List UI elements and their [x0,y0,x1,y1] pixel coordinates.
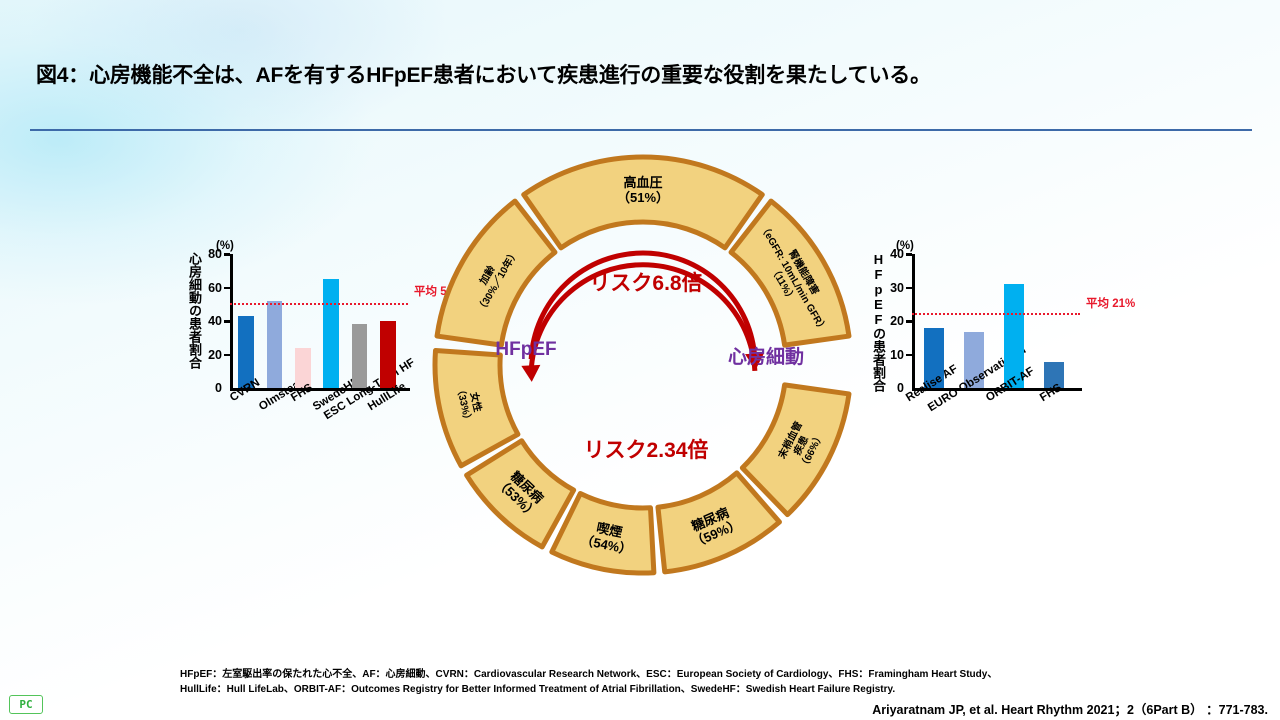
abbreviation-footnote: HFpEF：左室駆出率の保たれた心不全、AF：心房細動、CVRN：Cardiov… [180,668,997,697]
page-title: 図4：心房機能不全は、AFを有するHFpEF患者において疾患進行の重要な役割を果… [36,59,931,89]
y-tick-label: 10 [872,348,904,362]
average-label: 平均 21% [1086,295,1135,311]
left-bar-chart: 心房細動の患者割合 (%) 020406080CVRNOlmsteadFHSSw… [188,240,428,455]
title-divider [30,129,1252,131]
svg-text:（51%）: （51%） [617,190,669,205]
y-tick [224,320,230,323]
risk-arrow-top [531,253,755,359]
bar [380,321,396,388]
y-tick-label: 30 [872,281,904,295]
node-label-af: 心房細動 [728,345,804,368]
y-tick [906,354,912,357]
bar [267,301,283,388]
y-tick-label: 20 [872,314,904,328]
y-tick-label: 0 [190,381,222,395]
bar [238,316,254,388]
y-tick [906,253,912,256]
svg-text:高血圧: 高血圧 [623,175,662,190]
y-tick [906,320,912,323]
citation-text: Ariyaratnam JP, et al. Heart Rhythm 2021… [872,699,1268,718]
y-tick-label: 60 [190,281,222,295]
footnote-line-1: HFpEF：左室駆出率の保たれた心不全、AF：心房細動、CVRN：Cardiov… [180,668,997,683]
y-tick-label: 40 [190,314,222,328]
average-line [230,303,408,305]
risk-label-top: リスク6.8倍 [589,271,702,295]
y-tick-label: 80 [190,247,222,261]
average-line [912,313,1080,315]
y-tick-label: 40 [872,247,904,261]
y-axis [912,254,915,389]
y-tick-label: 20 [190,348,222,362]
risk-cycle-diagram: 加齢（30%／10年）高血圧（51%）腎機能障害（eGFR: 10mL/min … [418,150,868,580]
slide-canvas: 図4：心房機能不全は、AFを有するHFpEF患者において疾患進行の重要な役割を果… [0,0,1280,720]
y-tick [906,287,912,290]
y-tick [224,253,230,256]
bar [323,279,339,388]
bar [352,324,368,388]
node-label-hfpef: HFpEF [495,339,556,360]
ring-segment-label: 高血圧（51%） [617,175,669,205]
y-tick-label: 0 [872,381,904,395]
y-tick [224,287,230,290]
x-category-label: FHS [1038,382,1064,404]
left-chart-plot: 020406080CVRNOlmsteadFHSSwedeHFESC Long-… [232,254,402,388]
pc-logo: PC [9,695,43,714]
y-tick [224,354,230,357]
right-bar-chart: HFpEFの患者割合 (%) 010203040Realise AFEURO O… [872,240,1112,455]
risk-arrow-bottom-head [521,365,540,382]
risk-label-bottom: リスク2.34倍 [584,438,709,462]
right-chart-plot: 010203040Realise AFEURO ObservationalORB… [914,254,1074,388]
footnote-line-2: HullLife：Hull LifeLab、ORBIT-AF：Outcomes … [180,683,997,698]
y-axis [230,254,233,389]
